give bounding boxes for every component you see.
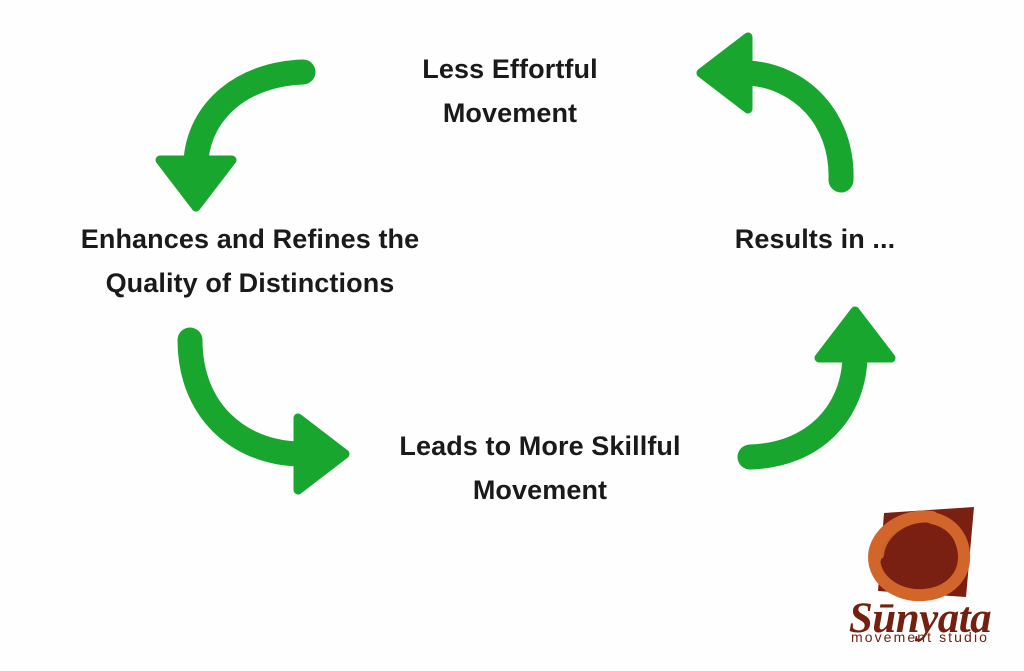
logo-tagline: movement studio xyxy=(832,629,1008,645)
curved-arrow-down-left-icon xyxy=(160,72,303,207)
node-label-left: Enhances and Refines the Quality of Dist… xyxy=(10,218,490,305)
curved-arrow-up-left-icon xyxy=(701,37,841,180)
diagram-canvas: Less Effortful Movement Results in ... L… xyxy=(0,0,1024,671)
curved-arrow-down-right-icon xyxy=(190,340,345,490)
enso-brush-mark-icon xyxy=(862,505,982,605)
node-label-bottom: Leads to More Skillful Movement xyxy=(340,425,740,512)
node-label-right: Results in ... xyxy=(680,218,950,262)
sunyata-logo: Sūnyata movement studio xyxy=(832,505,1008,657)
curved-arrow-up-right-icon xyxy=(750,311,891,457)
node-label-top: Less Effortful Movement xyxy=(330,48,690,135)
